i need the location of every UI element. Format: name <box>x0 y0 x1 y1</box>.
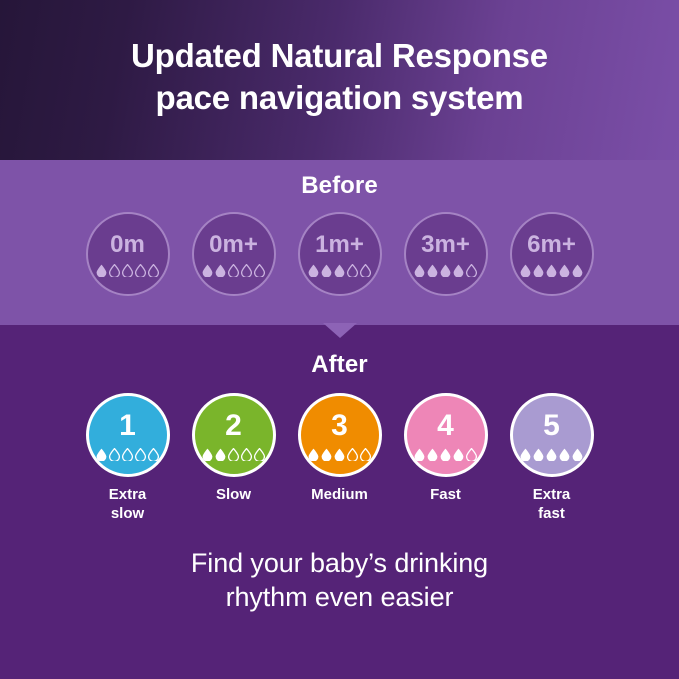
after-pace-label: Fast <box>430 486 461 505</box>
after-pace-label: Medium <box>311 486 368 505</box>
after-pace-label: Slow <box>216 486 251 505</box>
after-section: After 1Extra slow2Slow3Medium4Fast5Extra… <box>0 325 679 679</box>
droplet-filled-icon <box>308 264 319 277</box>
after-pace-number: 1 <box>119 411 136 441</box>
droplet-empty-icon <box>135 448 146 461</box>
before-pace-item: 6m+ <box>507 212 597 296</box>
before-pace-circle: 6m+ <box>510 212 594 296</box>
droplet-filled-icon <box>215 264 226 277</box>
after-pace-item: 4Fast <box>401 393 491 505</box>
after-pace-label: Extra fast <box>533 486 571 524</box>
droplet-rating <box>202 448 265 461</box>
before-pace-circle: 0m <box>86 212 170 296</box>
droplet-filled-icon <box>215 448 226 461</box>
droplet-filled-icon <box>414 264 425 277</box>
droplet-filled-icon <box>533 264 544 277</box>
after-pace-item: 3Medium <box>295 393 385 505</box>
droplet-filled-icon <box>453 264 464 277</box>
droplet-rating <box>202 264 265 277</box>
droplet-rating <box>96 448 159 461</box>
droplet-empty-icon <box>466 264 477 277</box>
before-age-label: 3m+ <box>421 233 470 257</box>
chevron-down-arrow-icon <box>323 323 357 338</box>
before-age-label: 0m <box>110 233 145 257</box>
after-pace-circle: 4 <box>404 393 488 477</box>
droplet-filled-icon <box>202 448 213 461</box>
droplet-filled-icon <box>572 264 583 277</box>
droplet-empty-icon <box>148 264 159 277</box>
droplet-rating <box>96 264 159 277</box>
before-pace-circle: 3m+ <box>404 212 488 296</box>
after-section-label: After <box>311 351 368 379</box>
droplet-empty-icon <box>122 448 133 461</box>
before-pace-item: 3m+ <box>401 212 491 296</box>
droplet-empty-icon <box>148 448 159 461</box>
droplet-rating <box>308 448 371 461</box>
droplet-filled-icon <box>321 264 332 277</box>
after-pace-circle: 5 <box>510 393 594 477</box>
after-pace-number: 2 <box>225 411 242 441</box>
after-pace-item: 5Extra fast <box>507 393 597 524</box>
droplet-empty-icon <box>228 448 239 461</box>
page-title: Updated Natural Response pace navigation… <box>131 35 548 118</box>
droplet-empty-icon <box>109 264 120 277</box>
droplet-filled-icon <box>533 448 544 461</box>
droplet-empty-icon <box>228 264 239 277</box>
droplet-filled-icon <box>334 448 345 461</box>
droplet-empty-icon <box>135 264 146 277</box>
before-pace-circle: 0m+ <box>192 212 276 296</box>
before-age-label: 6m+ <box>527 233 576 257</box>
before-age-label: 0m+ <box>209 233 258 257</box>
before-pace-item: 0m <box>83 212 173 296</box>
droplet-filled-icon <box>546 264 557 277</box>
before-pace-circle: 1m+ <box>298 212 382 296</box>
after-pace-circle: 1 <box>86 393 170 477</box>
droplet-empty-icon <box>347 448 358 461</box>
after-pace-number: 3 <box>331 411 348 441</box>
droplet-rating <box>414 264 477 277</box>
droplet-filled-icon <box>202 264 213 277</box>
droplet-empty-icon <box>254 448 265 461</box>
droplet-filled-icon <box>440 448 451 461</box>
droplet-rating <box>414 448 477 461</box>
droplet-empty-icon <box>241 448 252 461</box>
before-section-label: Before <box>301 172 378 200</box>
after-pace-circle: 3 <box>298 393 382 477</box>
droplet-rating <box>520 264 583 277</box>
droplet-empty-icon <box>347 264 358 277</box>
droplet-empty-icon <box>360 264 371 277</box>
after-pace-number: 5 <box>543 411 560 441</box>
droplet-empty-icon <box>360 448 371 461</box>
droplet-filled-icon <box>414 448 425 461</box>
droplet-filled-icon <box>334 264 345 277</box>
droplet-rating <box>308 264 371 277</box>
after-pace-label: Extra slow <box>109 486 147 524</box>
after-pace-circle: 2 <box>192 393 276 477</box>
droplet-filled-icon <box>427 448 438 461</box>
after-circle-row: 1Extra slow2Slow3Medium4Fast5Extra fast <box>83 393 597 524</box>
droplet-filled-icon <box>427 264 438 277</box>
after-pace-number: 4 <box>437 411 454 441</box>
droplet-filled-icon <box>96 264 107 277</box>
before-age-label: 1m+ <box>315 233 364 257</box>
droplet-filled-icon <box>559 448 570 461</box>
droplet-filled-icon <box>308 448 319 461</box>
before-section: Before 0m0m+1m+3m+6m+ <box>0 160 679 325</box>
after-pace-item: 2Slow <box>189 393 279 505</box>
before-circle-row: 0m0m+1m+3m+6m+ <box>83 212 597 296</box>
droplet-empty-icon <box>122 264 133 277</box>
header-banner: Updated Natural Response pace navigation… <box>0 0 679 160</box>
droplet-rating <box>520 448 583 461</box>
infographic-root: Updated Natural Response pace navigation… <box>0 0 679 679</box>
droplet-filled-icon <box>453 448 464 461</box>
droplet-empty-icon <box>109 448 120 461</box>
droplet-filled-icon <box>559 264 570 277</box>
after-pace-item: 1Extra slow <box>83 393 173 524</box>
droplet-filled-icon <box>321 448 332 461</box>
droplet-empty-icon <box>466 448 477 461</box>
droplet-empty-icon <box>254 264 265 277</box>
droplet-filled-icon <box>546 448 557 461</box>
before-pace-item: 1m+ <box>295 212 385 296</box>
droplet-filled-icon <box>572 448 583 461</box>
droplet-empty-icon <box>241 264 252 277</box>
droplet-filled-icon <box>96 448 107 461</box>
droplet-filled-icon <box>520 264 531 277</box>
before-pace-item: 0m+ <box>189 212 279 296</box>
footer-tagline: Find your baby’s drinking rhythm even ea… <box>191 546 488 615</box>
droplet-filled-icon <box>440 264 451 277</box>
droplet-filled-icon <box>520 448 531 461</box>
